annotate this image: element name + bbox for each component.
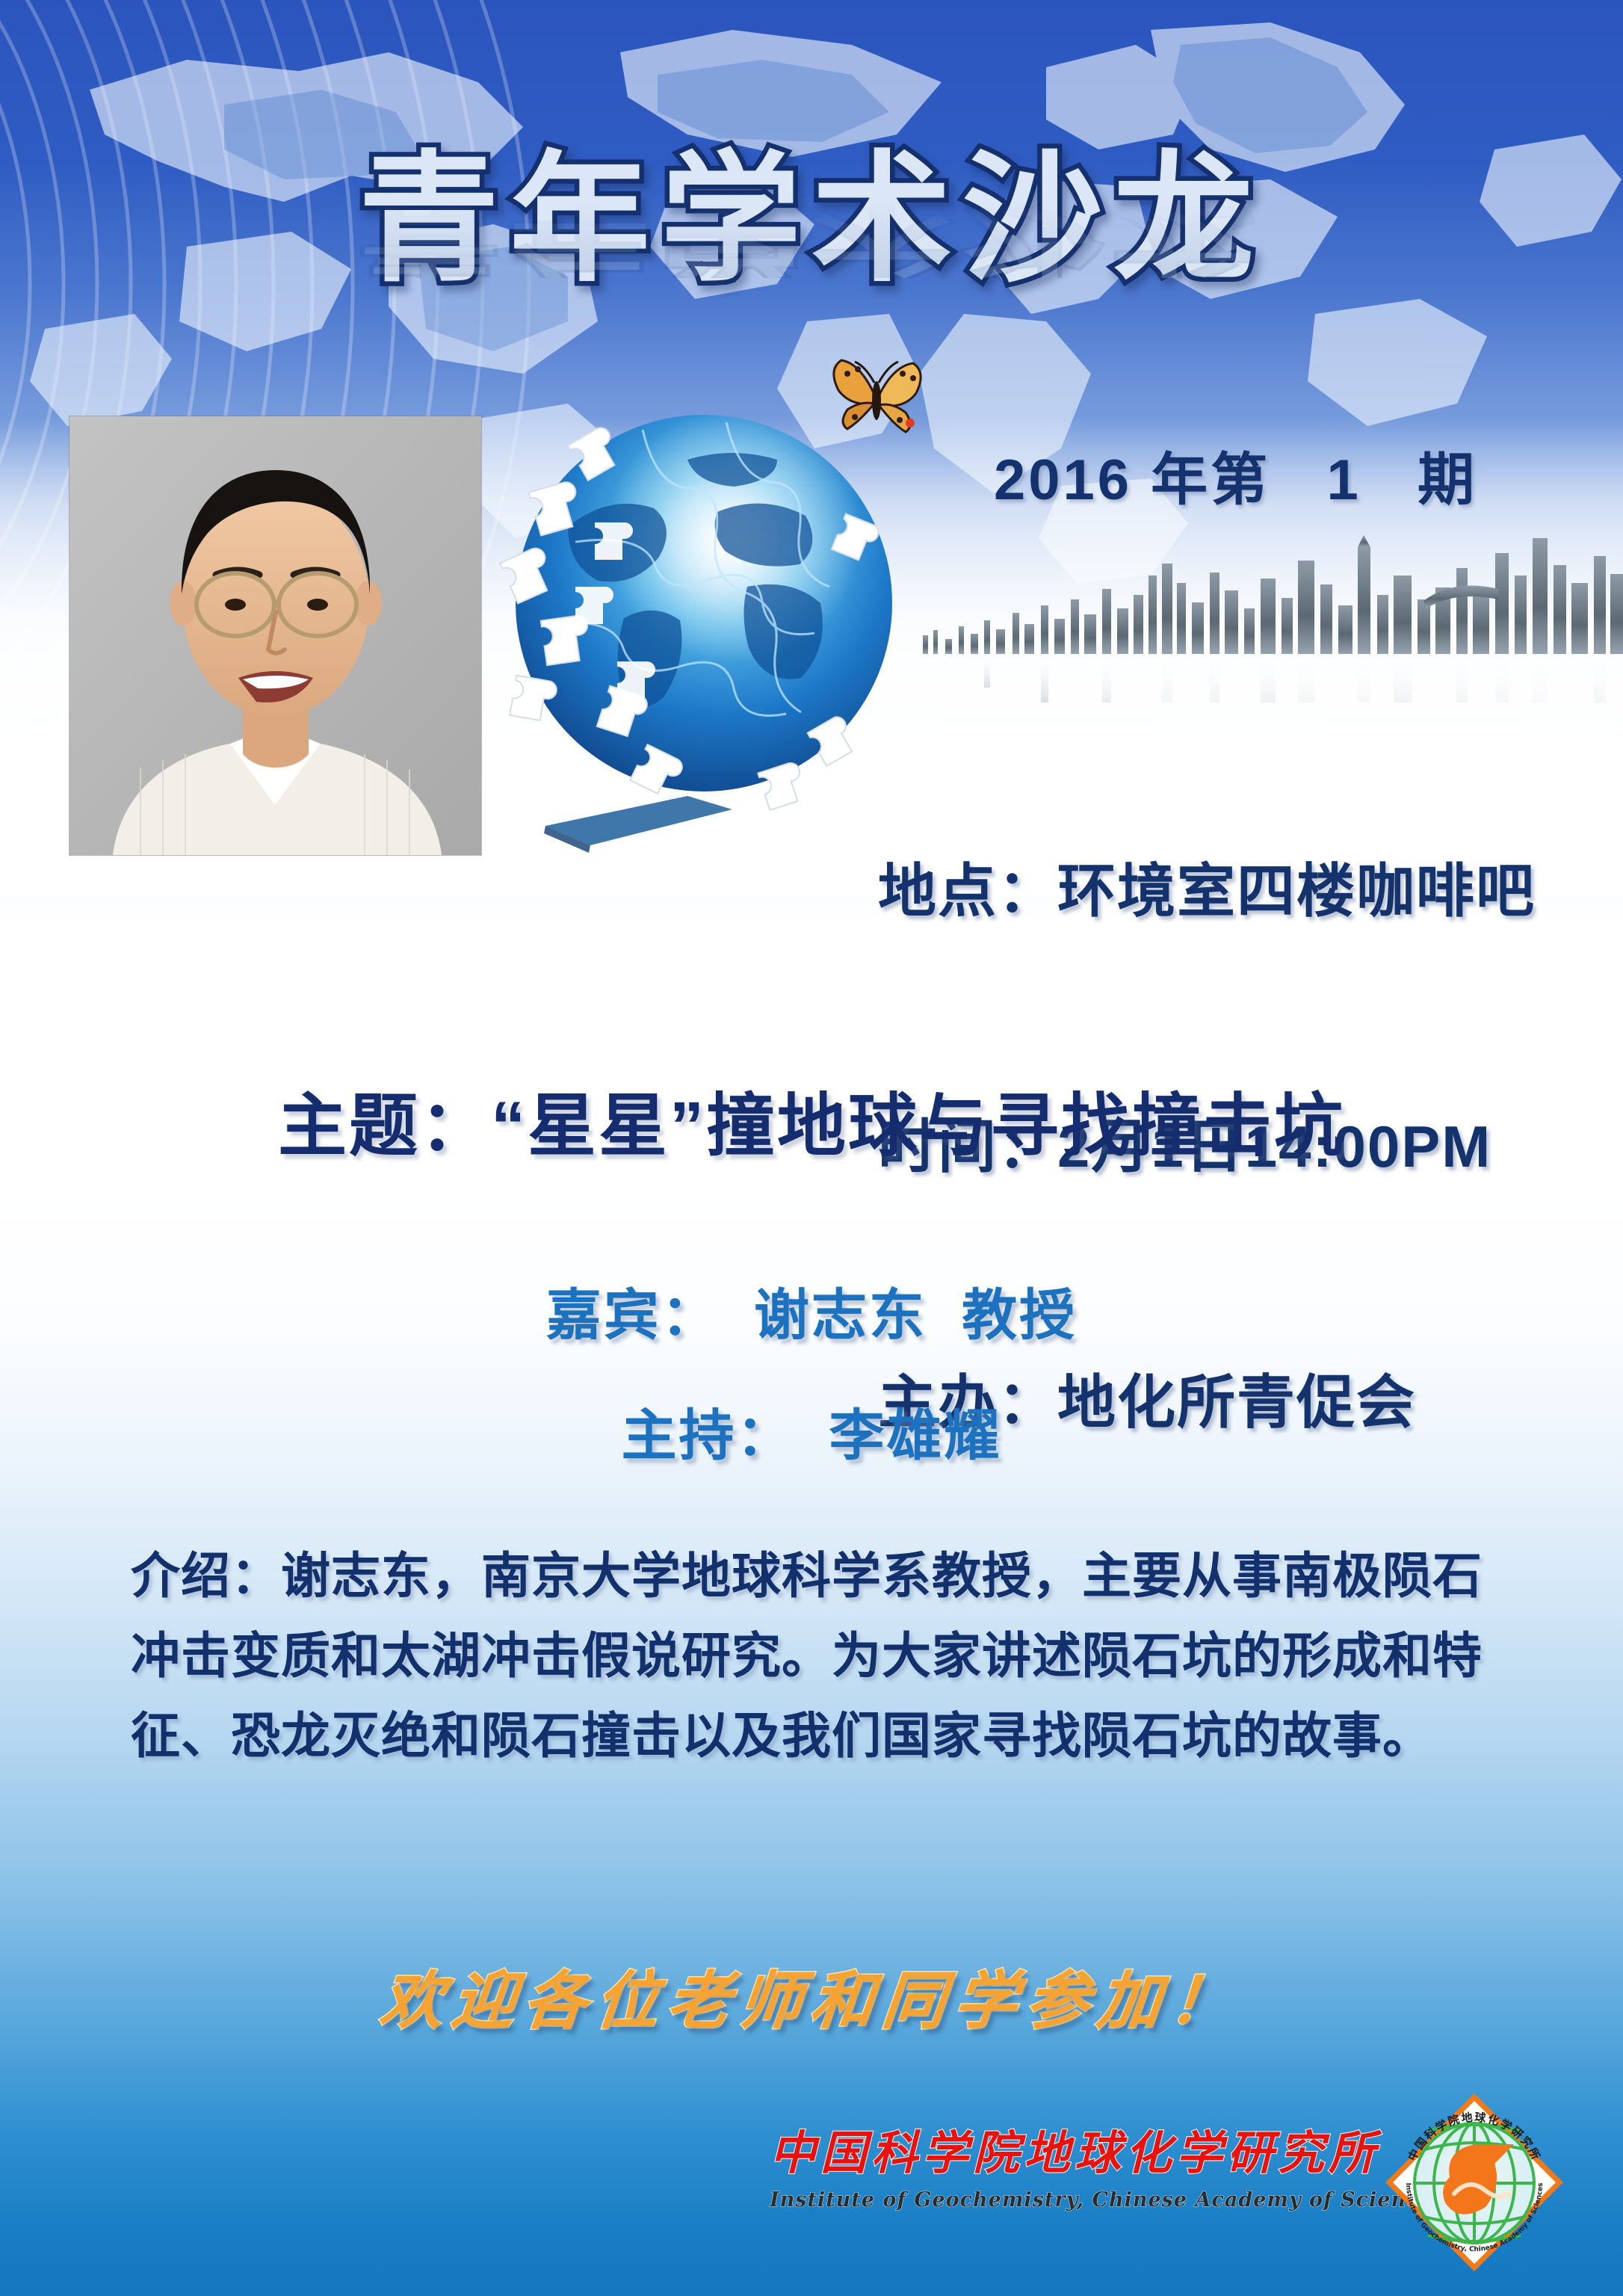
welcome-message: 欢迎各位老师和同学参加！ <box>0 1951 1623 2041</box>
butterfly-decoration <box>822 351 934 441</box>
institute-emblem-logo: 中国科学院地球化学研究所 Institute of Geochemistry, … <box>1381 2089 1568 2276</box>
page-title: 青年学术沙龙 <box>359 149 1264 290</box>
guest-speaker: 嘉宾： 谢志东 教授 <box>0 1271 1623 1351</box>
page-title-reflection: 青年学术沙龙 <box>0 201 1623 278</box>
poster-title-block: 青年学术沙龙 <box>0 149 1623 389</box>
talk-topic: 主题：“星星”撞地球与寻找撞击坑 <box>0 1070 1623 1170</box>
institute-name-en: Institute of Geochemistry, Chinese Acade… <box>770 2188 1323 2212</box>
institute-wordmark: 中国科学院地球化学研究所 Institute of Geochemistry, … <box>770 2130 1323 2212</box>
speaker-introduction: 介绍：谢志东，南京大学地球科学系教授，主要从事南极陨石冲击变质和太湖冲击假说研究… <box>131 1536 1513 1776</box>
session-host: 主持： 李雄耀 <box>0 1391 1623 1471</box>
puzzle-globe-graphic <box>463 340 942 863</box>
event-location: 地点：环境室四楼咖啡吧 <box>878 850 1595 933</box>
poster-canvas: 青年学术沙龙 青年学术沙龙 <box>0 0 1623 2296</box>
city-skyline-decoration <box>908 531 1623 703</box>
institute-name-cn: 中国科学院地球化学研究所 <box>770 2130 1323 2176</box>
speaker-portrait-photo <box>69 416 481 855</box>
issue-number: 2016 年第 1 期 <box>994 433 1577 516</box>
people-block: 嘉宾： 谢志东 教授 主持： 李雄耀 <box>0 1271 1623 1511</box>
